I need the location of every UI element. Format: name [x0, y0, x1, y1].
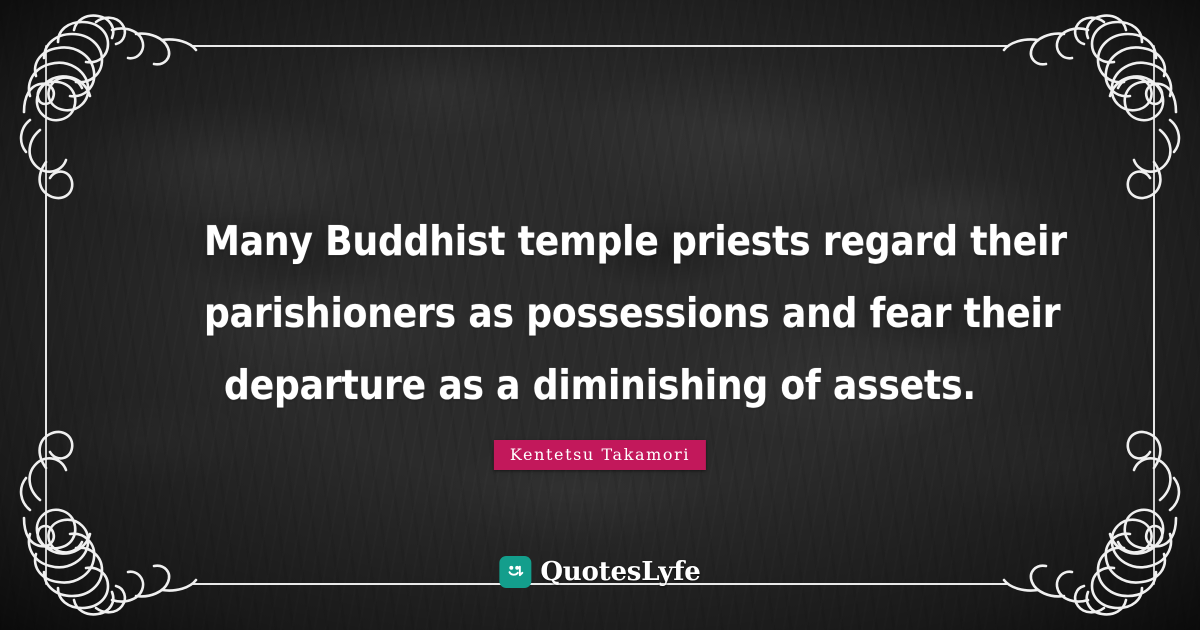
quote-line: parishioners as possessions and fear the…: [204, 277, 996, 349]
quote-card: Many Buddhist temple priests regard thei…: [0, 0, 1200, 630]
author-badge: Kentetsu Takamori: [494, 440, 706, 470]
site-logo[interactable]: QuotesLyfe: [499, 556, 700, 588]
quote-mark-icon: [499, 556, 531, 588]
quote-line: Many Buddhist temple priests regard thei…: [204, 205, 996, 277]
quote-line: departure as a diminishing of assets.: [204, 349, 996, 421]
quote-text: Many Buddhist temple priests regard thei…: [72, 205, 1128, 421]
site-logo-text: QuotesLyfe: [540, 557, 700, 587]
